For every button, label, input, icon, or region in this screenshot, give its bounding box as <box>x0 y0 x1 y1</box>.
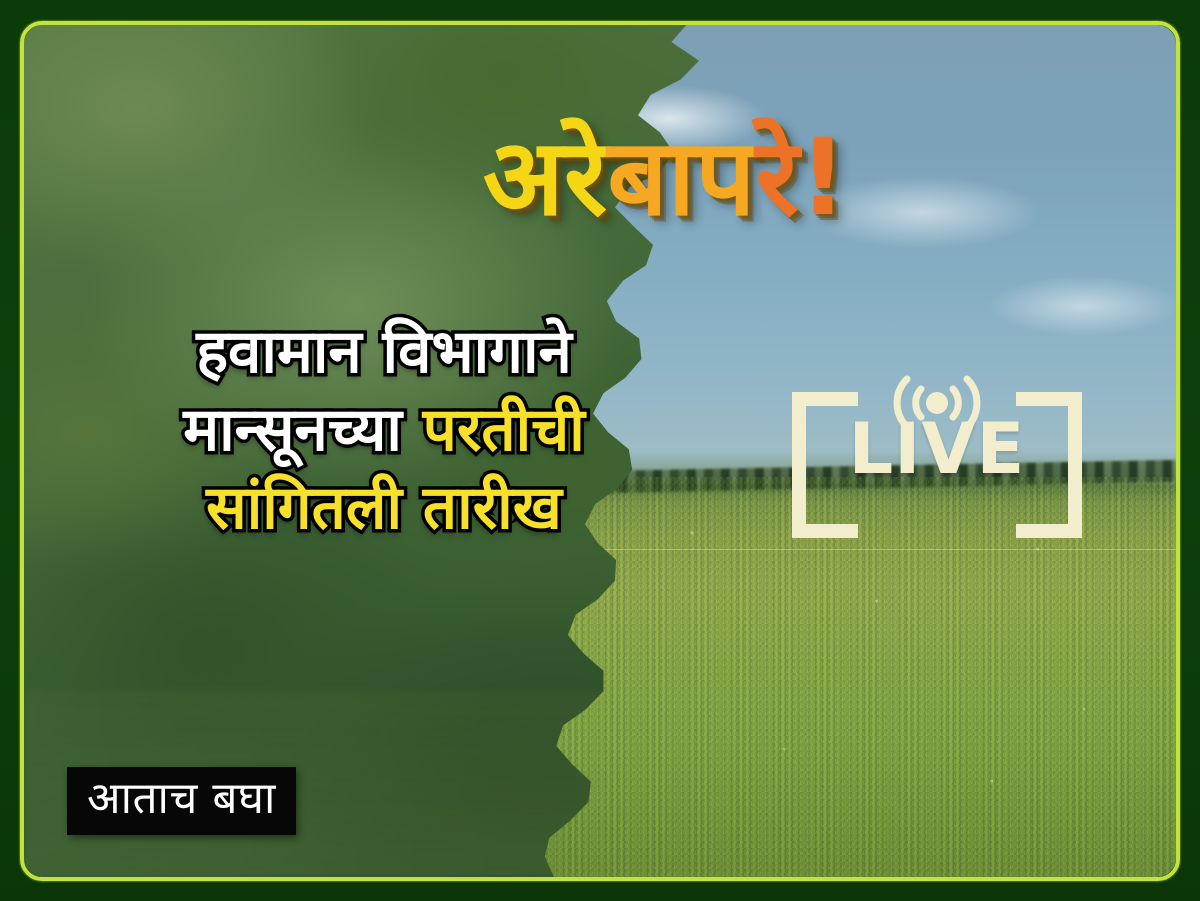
subheading-line-2-white: मान्सूनच्या <box>183 395 423 465</box>
caption-text: आताच बघा <box>87 776 276 822</box>
headline-segment-1: अरे <box>483 121 607 235</box>
subheading-line-1: हवामान विभागाने <box>64 313 704 391</box>
news-card-frame: LIVE अरे बापरे! हवामान विभागाने मान्सूनच… <box>0 0 1200 901</box>
headline: अरे बापरे! <box>24 121 1176 235</box>
subheading-line-2: मान्सूनच्या परतीची <box>64 391 704 469</box>
subheading-line-3: सांगितली तारीख <box>64 469 704 547</box>
subheading: हवामान विभागाने मान्सूनच्या परतीची सांगि… <box>64 313 704 547</box>
image-canvas: LIVE अरे बापरे! हवामान विभागाने मान्सूनच… <box>24 25 1176 877</box>
headline-segment-3: रे! <box>755 121 847 235</box>
subheading-line-2-yellow: परतीची <box>423 395 585 465</box>
live-badge: LIVE <box>792 370 1082 530</box>
headline-segment-2: बाप <box>607 121 755 235</box>
live-label: LIVE <box>792 414 1082 484</box>
caption-bar[interactable]: आताच बघा <box>67 767 296 835</box>
